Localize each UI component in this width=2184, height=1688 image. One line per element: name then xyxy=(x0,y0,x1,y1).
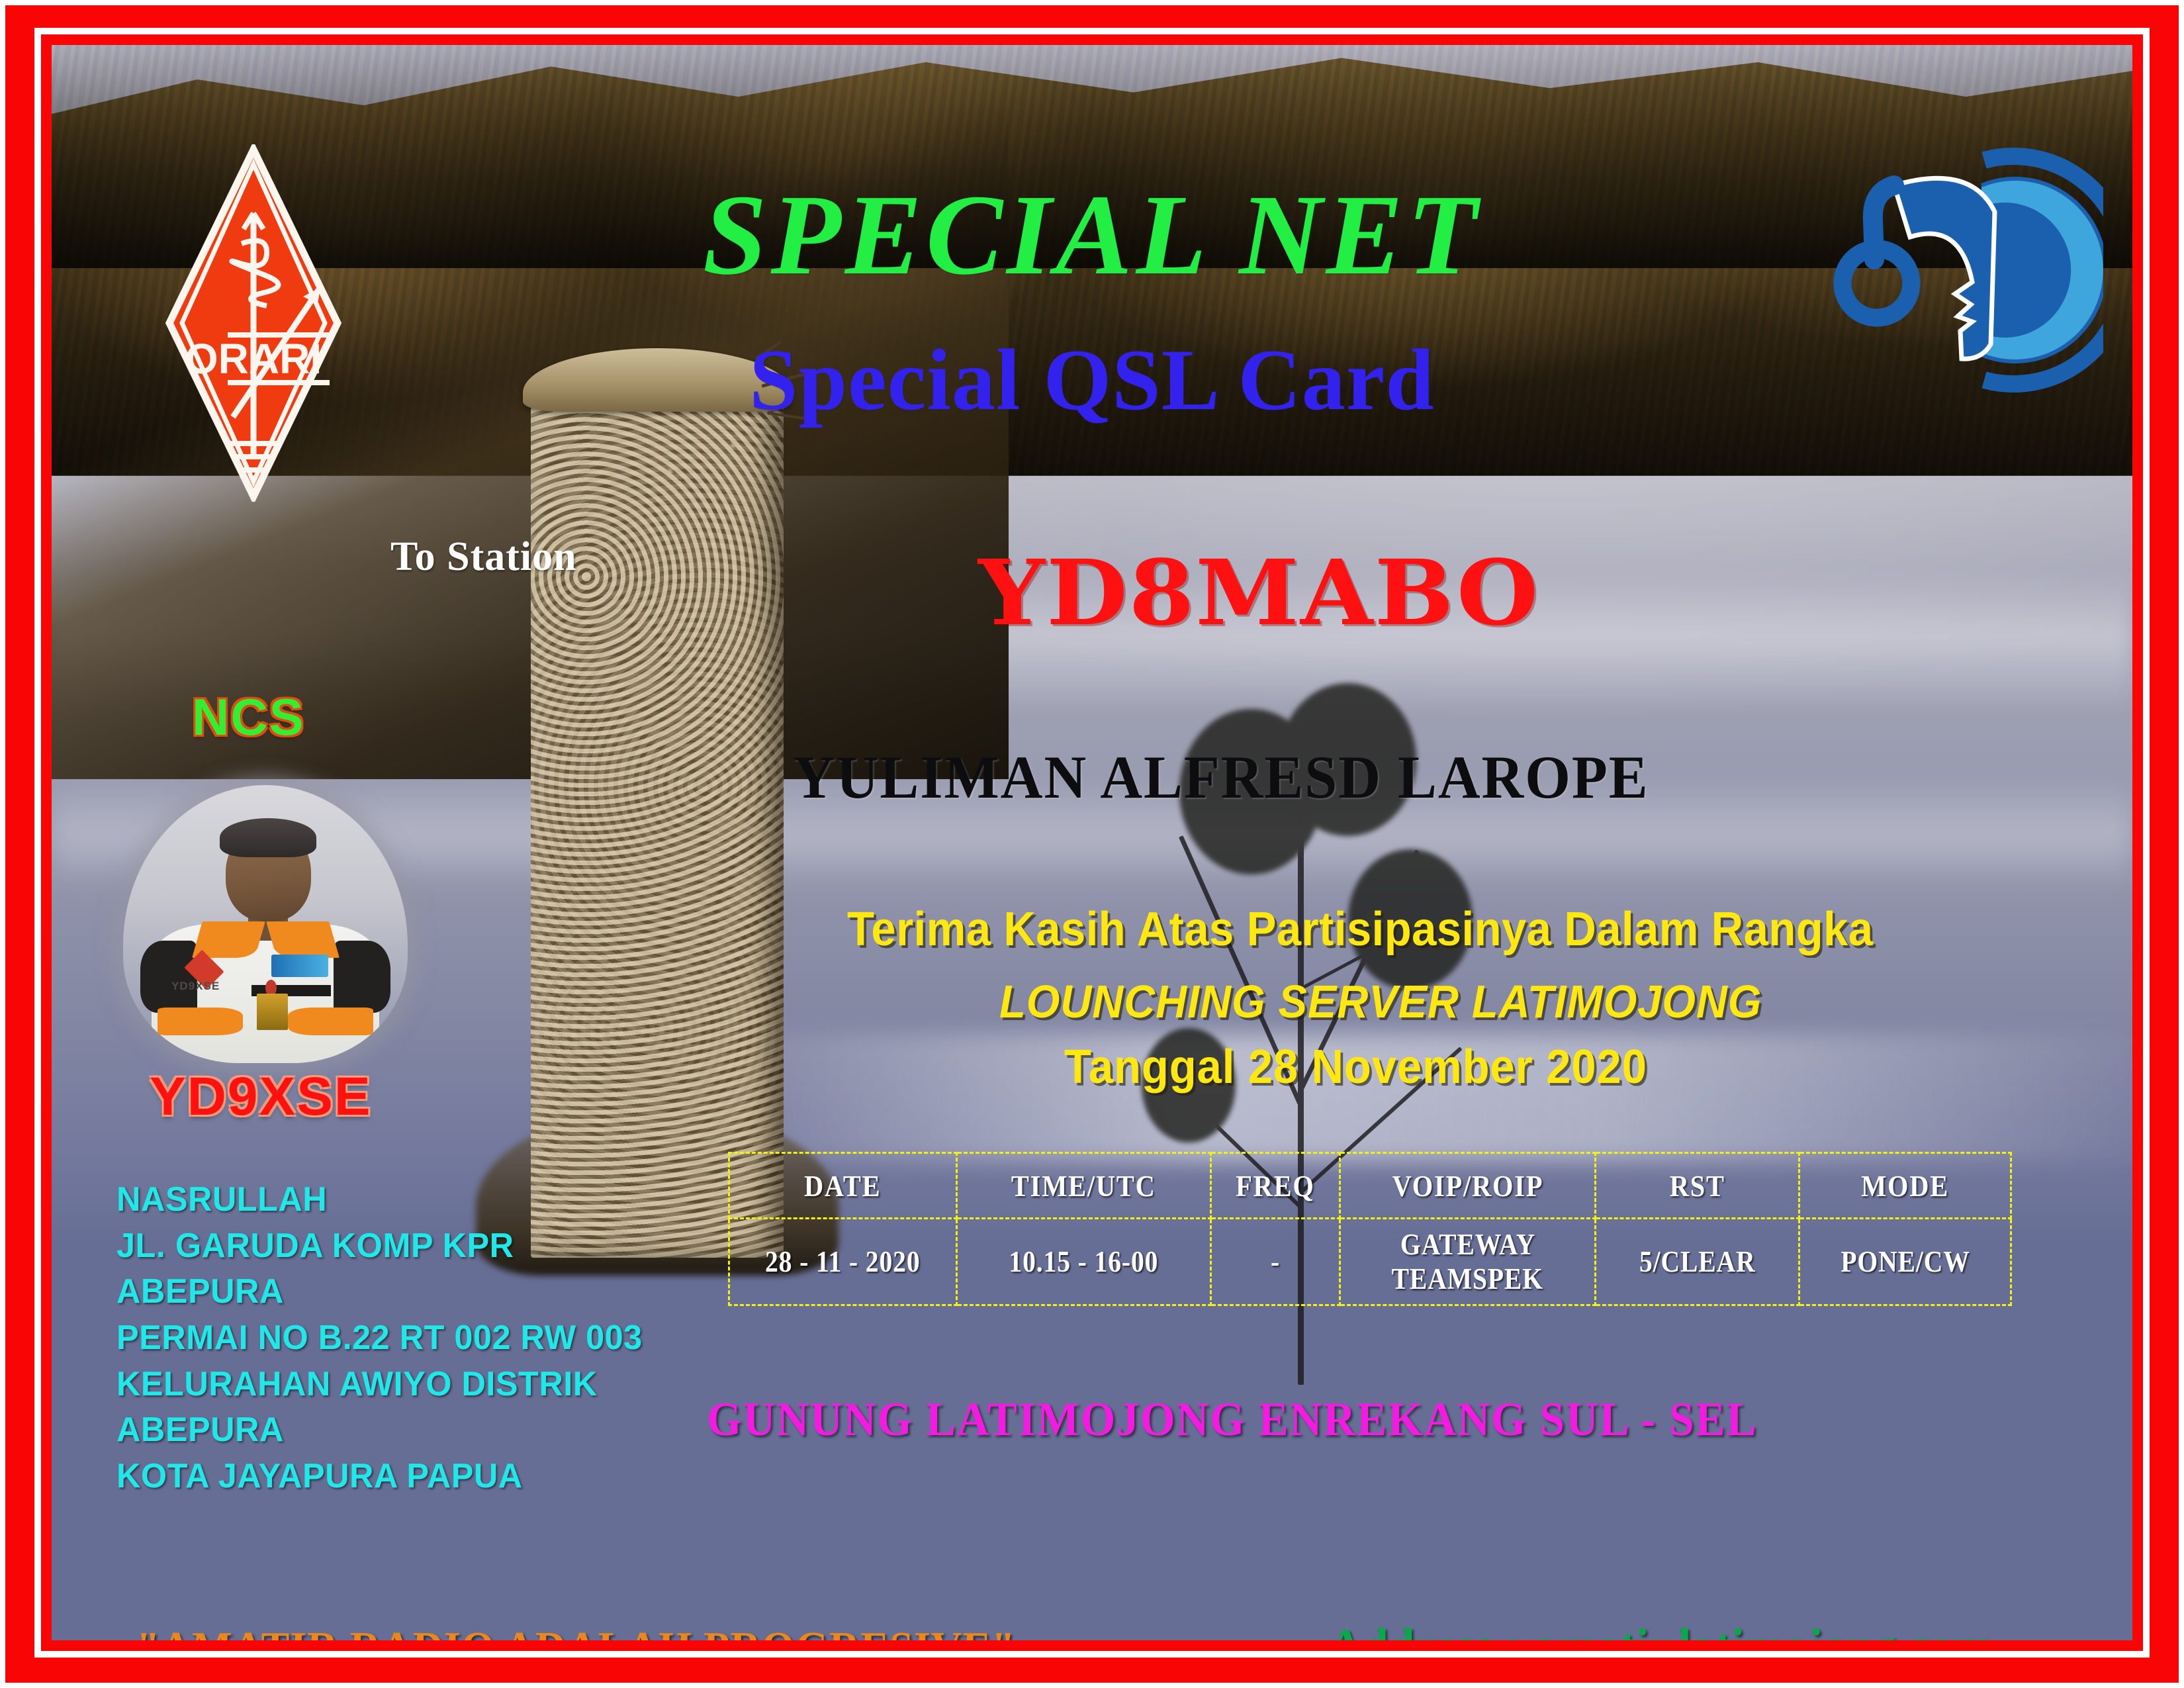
table-header-rst-text: RST xyxy=(1670,1168,1725,1203)
table-header-mode: MODE xyxy=(1799,1153,2011,1219)
event-date-line: Tanggal 28 November 2020 xyxy=(1064,1043,1647,1091)
page-title: SPECIAL NET xyxy=(52,177,2132,293)
qsl-card: ORARI SPECIAL NET Special QSL Card To St… xyxy=(0,0,2184,1688)
table-header-voip: VOIP/ROIP xyxy=(1340,1153,1596,1219)
cell-voip: GATEWAY TEAMSPEK xyxy=(1340,1219,1596,1305)
photo-hair xyxy=(220,818,316,857)
page-subtitle: Special QSL Card xyxy=(52,336,2132,424)
cell-date: 28 - 11 - 2020 xyxy=(729,1219,957,1305)
photo-waist-band-right xyxy=(288,1008,373,1035)
website-address: Address : amatir.latimojong.com xyxy=(1329,1622,1993,1640)
table-header-rst: RST xyxy=(1596,1153,1799,1219)
thanks-line: Terima Kasih Atas Partisipasinya Dalam R… xyxy=(847,906,1873,953)
cell-freq: - xyxy=(1211,1219,1340,1305)
location-line: GUNUNG LATIMOJONG ENREKANG SUL - SEL xyxy=(707,1395,1758,1443)
photo-waist-band-left xyxy=(158,1008,243,1035)
table-header-time-text: TIME/UTC xyxy=(1011,1168,1156,1203)
ncs-label: NCS xyxy=(192,691,305,743)
table-header-mode-text: MODE xyxy=(1861,1168,1949,1203)
address-block: NASRULLAH JL. GARUDA KOMP KPR ABEPURA PE… xyxy=(116,1177,659,1500)
table-row: 28 - 11 - 2020 10.15 - 16-00 - GATEWAY T… xyxy=(729,1219,2011,1305)
table-header-freq-text: FREQ xyxy=(1236,1168,1314,1203)
cell-mode-text: PONE/CW xyxy=(1841,1244,1970,1279)
cell-mode: PONE/CW xyxy=(1799,1219,2011,1305)
address-line: ABEPURA xyxy=(116,1269,643,1315)
cell-rst: 5/CLEAR xyxy=(1596,1219,1799,1305)
event-title-line: LOUNCHING SERVER LATIMOJONG xyxy=(999,978,1762,1025)
cell-time-text: 10.15 - 16-00 xyxy=(1009,1244,1158,1279)
table-header-date: DATE xyxy=(729,1153,957,1219)
address-line: KELURAHAN AWIYO DISTRIK xyxy=(116,1362,643,1408)
address-line: JL. GARUDA KOMP KPR xyxy=(116,1223,643,1270)
photo-badge-right xyxy=(271,955,328,977)
photo-sleeve-left xyxy=(140,941,197,1013)
ncs-callsign: YD9XSE xyxy=(150,1070,372,1124)
address-line: PERMAI NO B.22 RT 002 RW 003 xyxy=(116,1315,643,1362)
table-header-date-text: DATE xyxy=(804,1168,882,1203)
slogan-text: "AMATIR RADIO ADALAH PROGRESIVE" xyxy=(136,1626,1016,1640)
stone-cairn-monument xyxy=(520,348,794,1258)
cell-date-text: 28 - 11 - 2020 xyxy=(765,1244,921,1279)
table-header-voip-text: VOIP/ROIP xyxy=(1392,1168,1543,1203)
table-header-freq: FREQ xyxy=(1211,1153,1340,1219)
photo-collar-right xyxy=(266,921,339,958)
photo-shirt-callsign: YD9XSE xyxy=(171,980,220,993)
card-photo-background: ORARI SPECIAL NET Special QSL Card To St… xyxy=(52,45,2132,1640)
address-line: KOTA JAYAPURA PAPUA xyxy=(116,1454,643,1500)
cell-rst-text: 5/CLEAR xyxy=(1639,1244,1756,1279)
cell-voip-text-line2: TEAMSPEK xyxy=(1392,1262,1543,1296)
cell-time: 10.15 - 16-00 xyxy=(956,1219,1210,1305)
station-callsign: YD8MABO xyxy=(978,548,1539,638)
photo-id-card xyxy=(257,994,288,1030)
address-line: ABEPURA xyxy=(116,1407,643,1454)
to-station-label: To Station xyxy=(390,536,577,577)
qso-log-table: DATE TIME/UTC FREQ VOIP/ROIP RST MODE 28… xyxy=(728,1152,2012,1306)
cell-freq-text: - xyxy=(1271,1244,1280,1279)
address-line: NASRULLAH xyxy=(116,1177,643,1223)
operator-name: YULIMAN ALFRESD LAROPE xyxy=(793,747,1649,808)
cairn-body xyxy=(531,385,784,1258)
table-header-time: TIME/UTC xyxy=(956,1153,1210,1219)
table-header-row: DATE TIME/UTC FREQ VOIP/ROIP RST MODE xyxy=(729,1153,2011,1219)
cell-voip-text-line1: GATEWAY xyxy=(1400,1227,1535,1262)
photo-sleeve-right xyxy=(334,941,390,1013)
